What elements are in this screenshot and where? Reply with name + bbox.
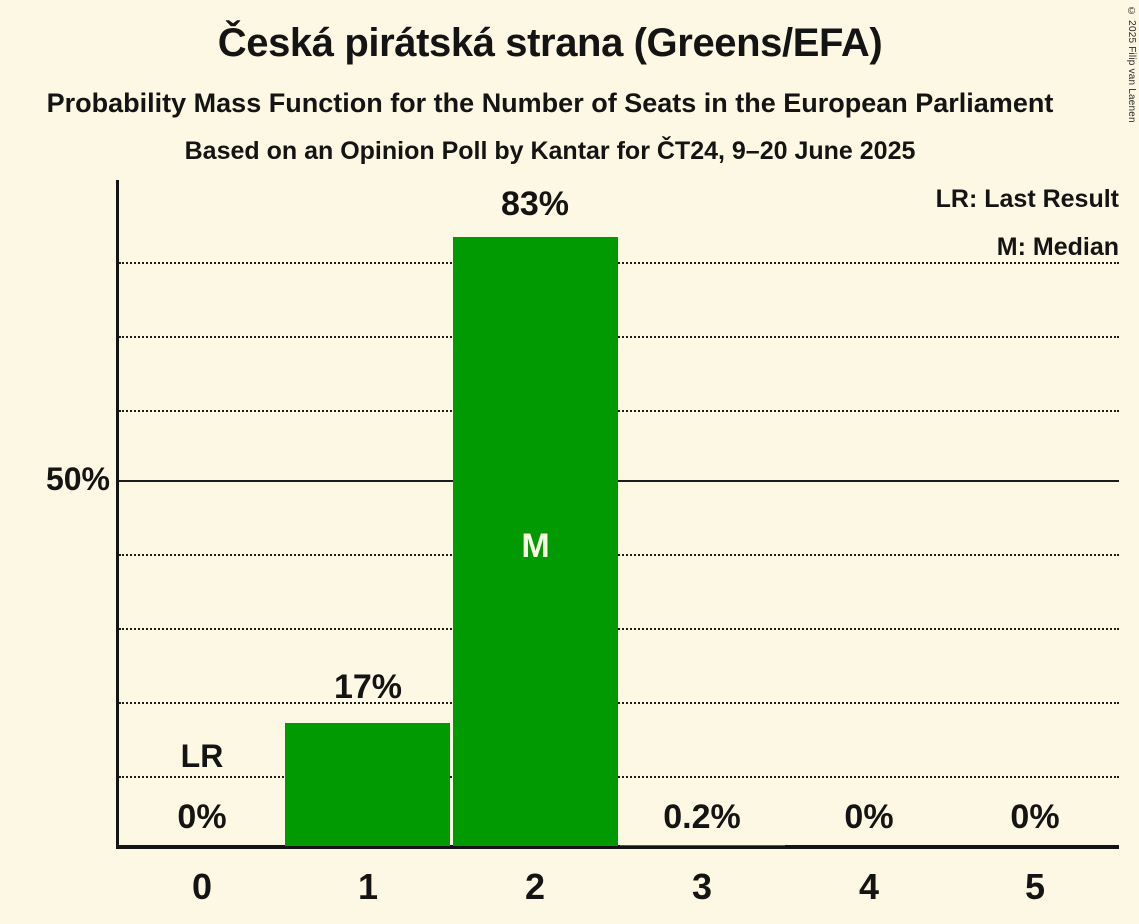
median-marker: M xyxy=(453,527,618,566)
x-axis-label-2: 2 xyxy=(452,866,618,908)
value-label-seats-1: 17% xyxy=(285,668,451,707)
copyright-notice: © 2025 Filip van Laenen xyxy=(1126,6,1137,123)
gridline-60 xyxy=(119,410,1119,412)
chart-subtitle: Probability Mass Function for the Number… xyxy=(0,88,1100,119)
last-result-marker: LR xyxy=(119,738,285,775)
value-label-seats-0: 0% xyxy=(119,798,285,837)
gridline-80 xyxy=(119,262,1119,264)
gridline-50 xyxy=(119,480,1119,482)
value-label-seats-3: 0.2% xyxy=(619,798,785,837)
gridline-20 xyxy=(119,702,1119,704)
chart-source-note: Based on an Opinion Poll by Kantar for Č… xyxy=(0,137,1100,166)
bar-seats-3[interactable] xyxy=(620,845,785,846)
x-axis-label-0: 0 xyxy=(119,866,285,908)
x-axis-label-1: 1 xyxy=(285,866,451,908)
bar-seats-1[interactable] xyxy=(285,723,450,846)
bar-seats-2[interactable]: M xyxy=(453,237,618,846)
gridline-40 xyxy=(119,554,1119,556)
x-axis-label-5: 5 xyxy=(952,866,1118,908)
value-label-seats-4: 0% xyxy=(786,798,952,837)
value-label-seats-2: 83% xyxy=(452,185,618,224)
gridline-70 xyxy=(119,336,1119,338)
gridline-30 xyxy=(119,628,1119,630)
page-title: Česká pirátská strana (Greens/EFA) xyxy=(0,21,1100,66)
chart-page: Česká pirátská strana (Greens/EFA) Proba… xyxy=(0,0,1139,924)
x-axis-label-3: 3 xyxy=(619,866,785,908)
x-axis-label-4: 4 xyxy=(786,866,952,908)
value-label-seats-5: 0% xyxy=(952,798,1118,837)
gridline-10 xyxy=(119,776,1119,778)
y-axis-tick-label-50: 50% xyxy=(10,461,110,498)
